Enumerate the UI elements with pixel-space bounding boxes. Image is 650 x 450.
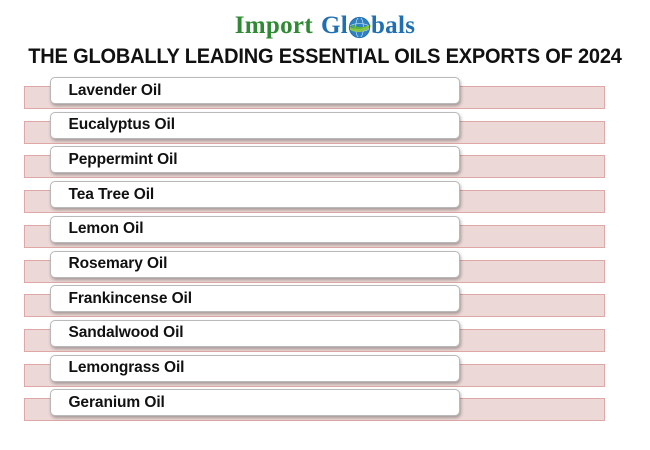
list-item[interactable]: Lemongrass Oil bbox=[50, 355, 460, 382]
list-item[interactable]: Rosemary Oil bbox=[50, 251, 460, 278]
list-item[interactable]: Frankincense Oil bbox=[50, 285, 460, 312]
list-item[interactable]: Lavender Oil bbox=[50, 77, 460, 104]
page-title: THE GLOBALLY LEADING ESSENTIAL OILS EXPO… bbox=[23, 44, 628, 69]
chart-row: Lemon Oil bbox=[0, 216, 650, 250]
globe-icon bbox=[348, 16, 371, 39]
brand-name-bals: bals bbox=[371, 13, 415, 38]
list-item[interactable]: Tea Tree Oil bbox=[50, 181, 460, 208]
bar-label: Lemon Oil bbox=[51, 220, 143, 238]
list-item[interactable]: Sandalwood Oil bbox=[50, 320, 460, 347]
brand-name-import: Import bbox=[235, 13, 313, 38]
bar-label: Peppermint Oil bbox=[51, 151, 177, 169]
chart-row: Lavender Oil bbox=[0, 77, 650, 111]
chart-row: Sandalwood Oil bbox=[0, 320, 650, 354]
bar-label: Geranium Oil bbox=[51, 394, 165, 412]
brand-logo: Import Gl bals bbox=[0, 0, 650, 42]
bar-label: Frankincense Oil bbox=[51, 290, 192, 308]
brand-logo-text: Import Gl bals bbox=[235, 13, 415, 38]
essential-oils-bar-chart: Lavender Oil Eucalyptus Oil Peppermint O… bbox=[0, 77, 650, 429]
chart-row: Frankincense Oil bbox=[0, 285, 650, 319]
bar-label: Lavender Oil bbox=[51, 82, 161, 100]
chart-row: Tea Tree Oil bbox=[0, 181, 650, 215]
chart-row: Eucalyptus Oil bbox=[0, 112, 650, 146]
list-item[interactable]: Peppermint Oil bbox=[50, 146, 460, 173]
chart-row: Rosemary Oil bbox=[0, 251, 650, 285]
list-item[interactable]: Geranium Oil bbox=[50, 389, 460, 416]
bar-label: Eucalyptus Oil bbox=[51, 116, 175, 134]
bar-label: Lemongrass Oil bbox=[51, 359, 184, 377]
chart-row: Geranium Oil bbox=[0, 389, 650, 423]
brand-name-gl: Gl bbox=[321, 13, 348, 38]
bar-label: Rosemary Oil bbox=[51, 255, 167, 273]
chart-row: Peppermint Oil bbox=[0, 146, 650, 180]
chart-row: Lemongrass Oil bbox=[0, 355, 650, 389]
list-item[interactable]: Lemon Oil bbox=[50, 216, 460, 243]
list-item[interactable]: Eucalyptus Oil bbox=[50, 112, 460, 139]
bar-label: Tea Tree Oil bbox=[51, 186, 154, 204]
bar-label: Sandalwood Oil bbox=[51, 324, 184, 342]
